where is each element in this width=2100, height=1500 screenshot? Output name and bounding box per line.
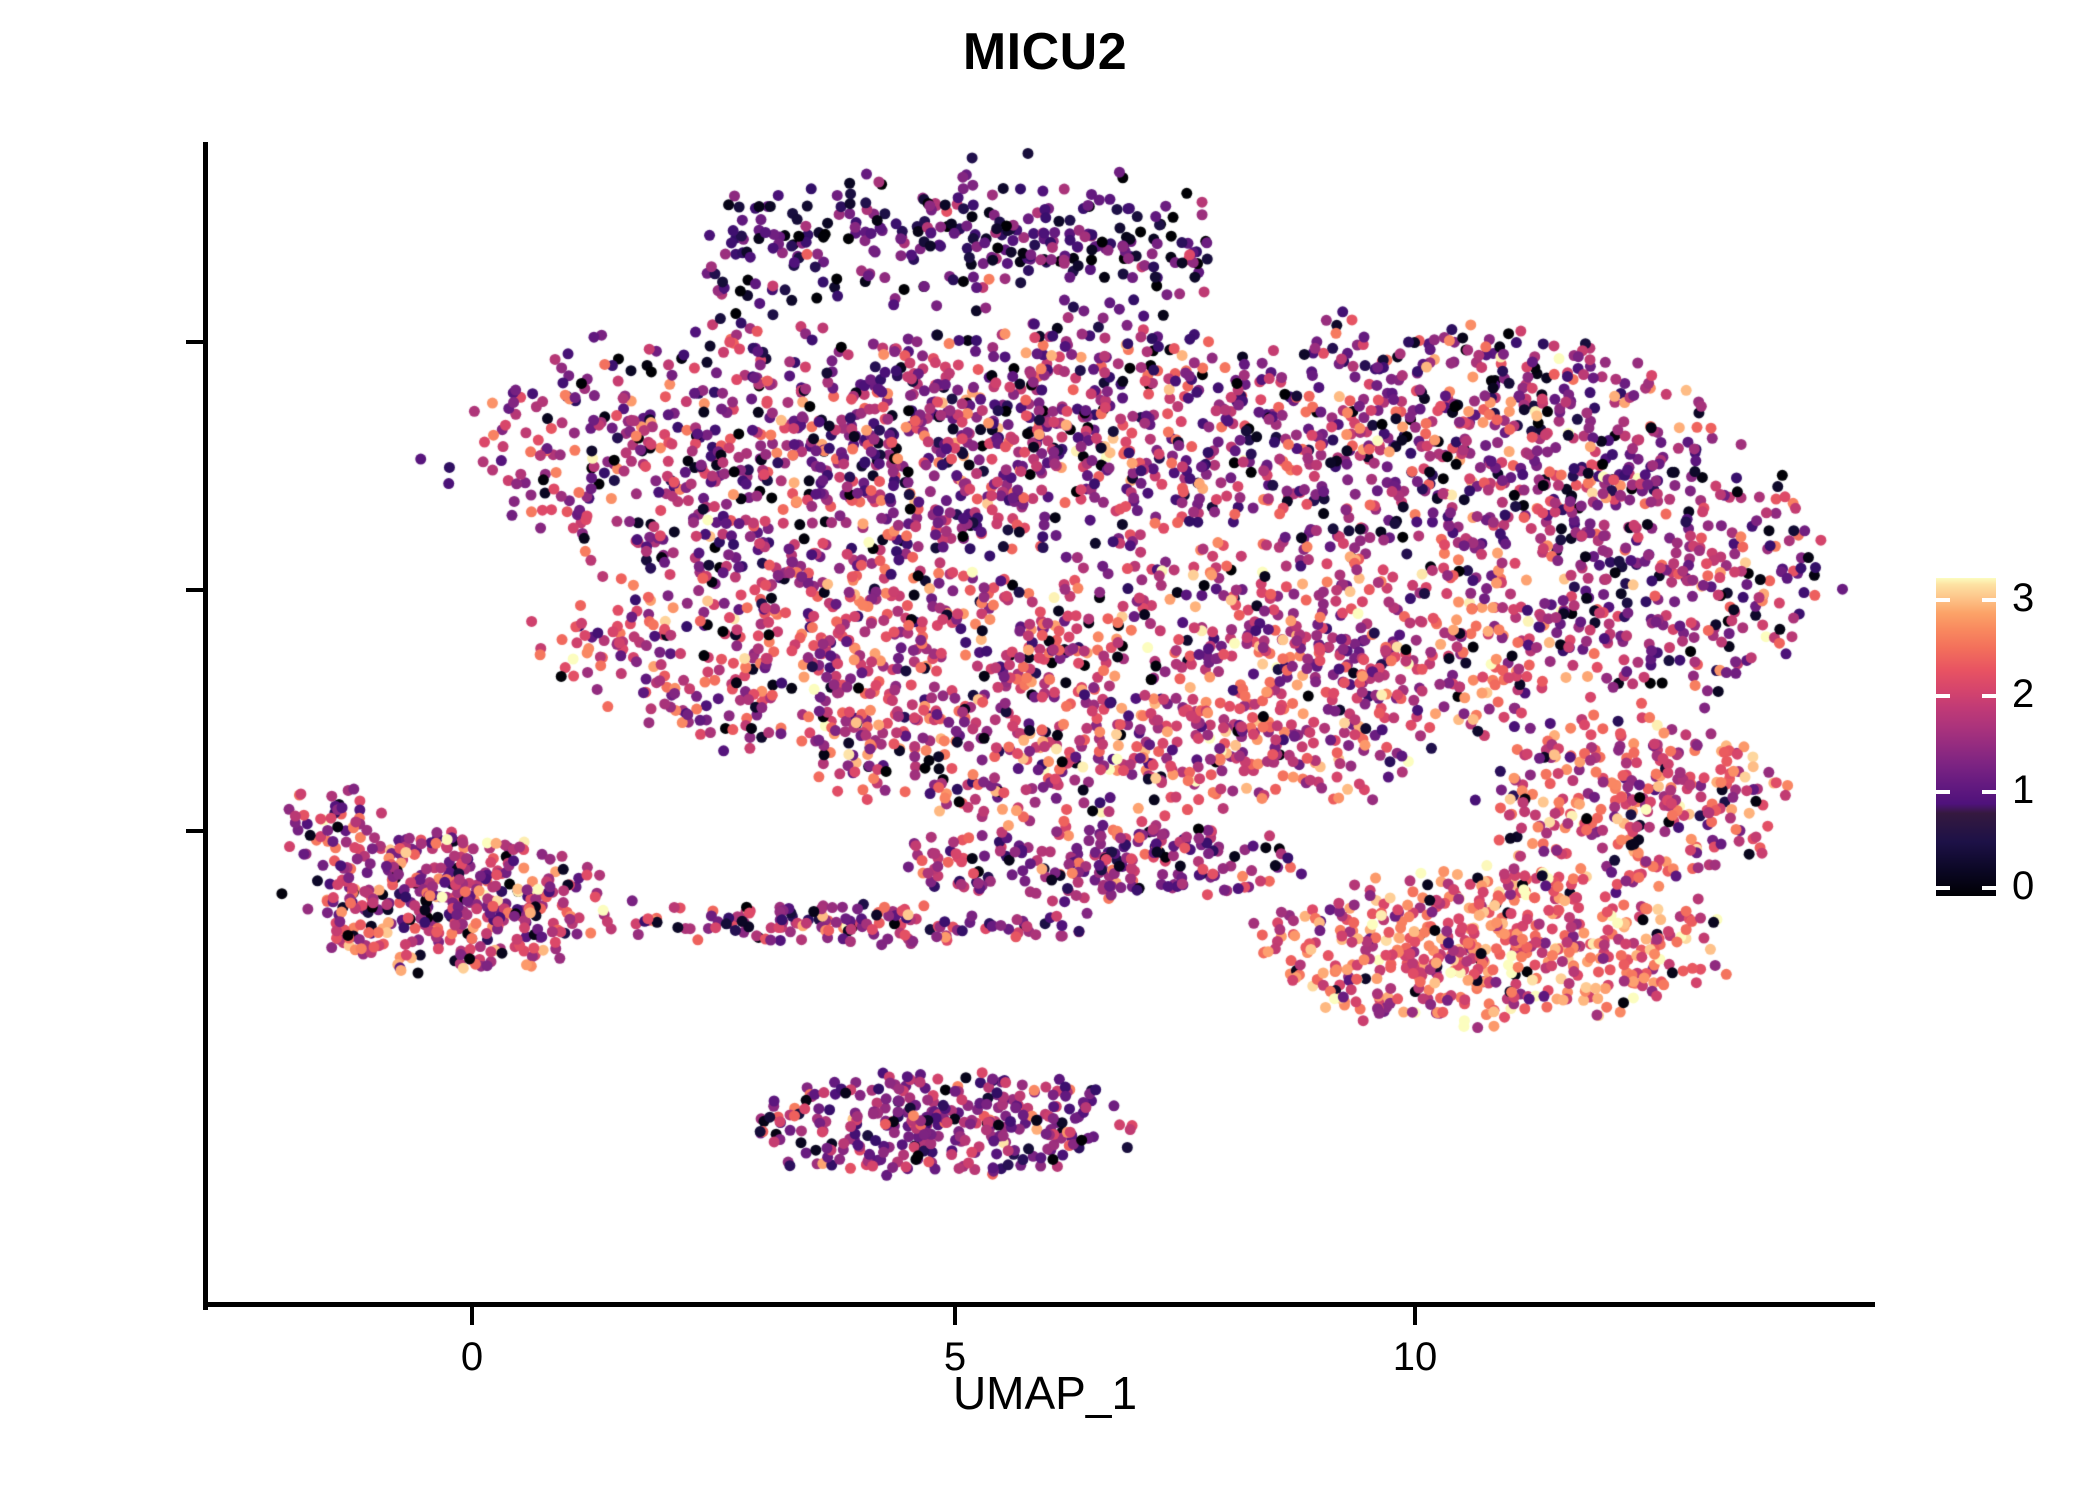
y-tick-mark-0 <box>186 829 204 833</box>
legend-tick-0-left <box>1936 886 1950 890</box>
scatter-plot-panel[interactable] <box>205 142 1875 1305</box>
y-axis-line <box>203 142 208 1310</box>
color-legend-bar <box>1936 578 1996 896</box>
legend-tick-2-right <box>1982 694 1996 698</box>
legend-tick-3-right <box>1982 598 1996 602</box>
x-axis-line <box>203 1302 1875 1307</box>
legend-tick-3-left <box>1936 598 1950 602</box>
x-tick-mark-5 <box>953 1307 957 1325</box>
legend-tick-1-left <box>1936 790 1950 794</box>
legend-label-0: 0 <box>2012 866 2034 906</box>
legend-label-1: 1 <box>2012 770 2034 810</box>
x-tick-mark-10 <box>1413 1307 1417 1325</box>
scatter-points-canvas <box>205 142 1875 1305</box>
color-legend[interactable]: 3 2 1 0 <box>1936 578 1996 896</box>
legend-label-3: 3 <box>2012 578 2034 618</box>
legend-tick-2-left <box>1936 694 1950 698</box>
legend-tick-1-right <box>1982 790 1996 794</box>
y-tick-mark-5 <box>186 588 204 592</box>
y-tick-mark-10 <box>186 340 204 344</box>
legend-label-2: 2 <box>2012 674 2034 714</box>
x-tick-mark-0 <box>470 1307 474 1325</box>
legend-tick-0-right <box>1982 886 1996 890</box>
y-axis-title-wrapper: UMAP_2 <box>20 0 90 1280</box>
figure-root: MICU2 0 5 10 0 5 10 UMAP_1 UMAP_2 3 2 1 … <box>0 0 2100 1500</box>
page-title: MICU2 <box>0 26 2090 78</box>
x-axis-title: UMAP_1 <box>0 1370 2090 1416</box>
